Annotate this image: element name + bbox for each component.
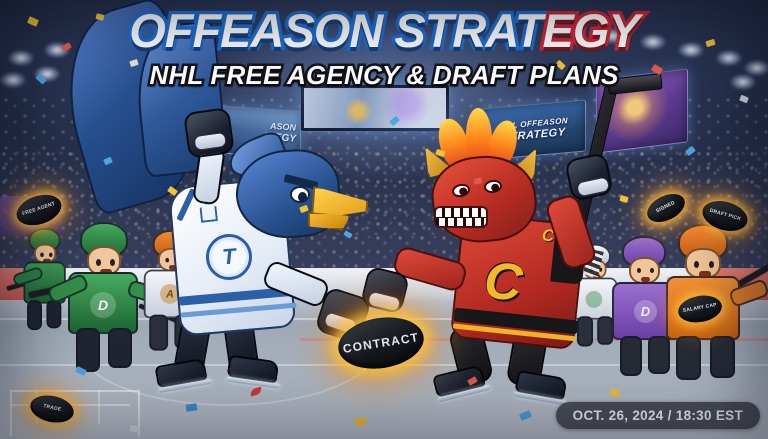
eagle-eye	[290, 186, 310, 203]
devil-skate-right	[514, 370, 567, 400]
eagle-skate-right	[227, 355, 280, 384]
date-time-badge: OCT. 26, 2024 / 18:30 EST	[556, 402, 760, 429]
ice-crease-tick-2	[98, 390, 100, 424]
blue-eagle-mascot: T	[108, 84, 368, 384]
eagle-skate-left	[154, 358, 207, 388]
banner-title-block: OFFEASON STRATEGY NHL FREE AGENCY & DRAF…	[0, 6, 768, 91]
contract-puck-label: CONTRACT	[342, 331, 420, 355]
banner-title: OFFEASON STRATEGY	[129, 6, 639, 56]
devil-glove-right	[564, 152, 614, 202]
banner-title-red-segment: EGY	[543, 4, 639, 57]
devil-team-crest: C	[473, 253, 533, 314]
devil-mouth-fangs	[434, 206, 488, 228]
ice-crease-markings	[10, 390, 140, 436]
banner-title-blue-segment: OFFEASON STRAT	[129, 4, 542, 57]
banner-graphic: ASON ATEGY NHL OFFEASON STRATEGY E	[0, 0, 768, 439]
eagle-glove-fist	[183, 107, 235, 159]
red-devil-mascot: C C	[418, 160, 638, 390]
banner-subtitle: NHL FREE AGENCY & DRAFT PLANS	[0, 60, 768, 91]
